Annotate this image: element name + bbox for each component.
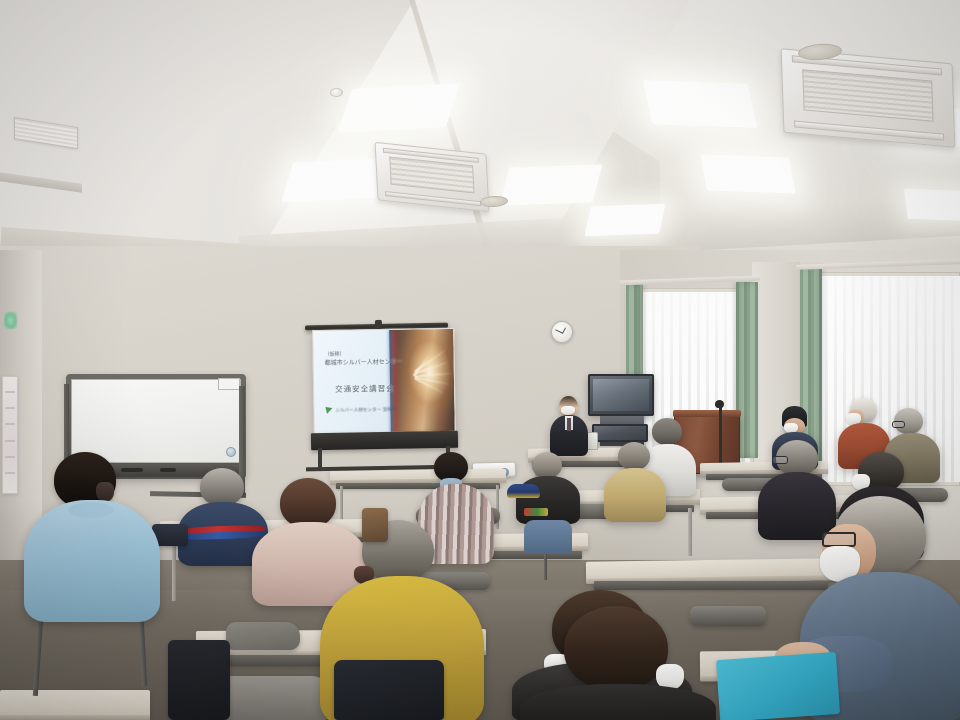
seminar-room-photo: （仮称） 都城市シルバー人材センター 交通安全講習会 シルバー人材センター 宮崎… [0,0,960,720]
table-apron [594,581,828,590]
slide-logo-text: シルバー人材センター 宮崎県 [335,407,396,414]
attendee-head [200,468,244,506]
cyan-document-folder[interactable] [716,652,840,720]
screen-bottom-weight [311,431,458,451]
attendee-head [652,418,682,445]
person-attendee-a1 [24,452,160,620]
face-mask [96,482,114,502]
presentation-slide: （仮称） 都城市シルバー人材センター 交通安全講習会 シルバー人材センター 宮崎… [313,329,455,433]
person-presenter [548,396,590,456]
wall-clock [551,321,573,343]
eyeglasses-icon [892,421,905,428]
leaf-logo-icon [325,407,332,414]
presenter-necktie [567,418,571,431]
eyeglasses-icon [822,532,856,547]
table-leg [172,543,176,601]
pencil-case [524,508,548,516]
attendee-head [618,442,650,470]
light-panel [643,80,757,128]
light-panel [584,204,665,237]
light-panel [904,189,960,221]
shirt-collar [68,502,114,518]
flat-panel-monitor [588,374,654,416]
table-leg [688,508,692,556]
eyeglasses-icon [772,456,788,464]
seminar-table [0,690,150,720]
wall-notice-poster [2,376,18,494]
attendee-body [520,684,716,720]
person-attendee-a16 [520,606,716,720]
microphone-icon [715,400,724,408]
slide-line-3: 交通安全講習会 [335,383,395,395]
person-attendee-a6 [516,452,580,548]
exit-sign-icon [4,312,17,329]
attendee-head [564,606,668,690]
person-attendee-a7 [604,442,666,520]
light-panel [701,154,796,193]
attendee-body [604,468,666,522]
air-conditioner-unit [781,48,956,147]
light-panel [338,83,461,132]
projection-screen: （仮称） 都城市シルバー人材センター 交通安全講習会 シルバー人材センター 宮崎… [312,328,456,434]
black-handbag [334,660,444,720]
navy-yellow-cap [507,484,540,498]
attendee-head [532,452,562,478]
black-bag-on-floor [168,640,230,720]
attendee-jeans [524,520,572,554]
seminar-table [586,558,836,583]
brown-handbag[interactable] [362,508,388,542]
attendee-body [24,500,160,622]
smoke-detector-icon [330,88,343,97]
slide-line-2: 都城市シルバー人材センター [325,357,403,367]
presenter-face-mask [561,406,575,415]
air-conditioner-unit [375,142,490,212]
gray-folded-beanie[interactable] [226,622,300,650]
light-panel [500,164,602,205]
microphone-stand [719,404,722,466]
